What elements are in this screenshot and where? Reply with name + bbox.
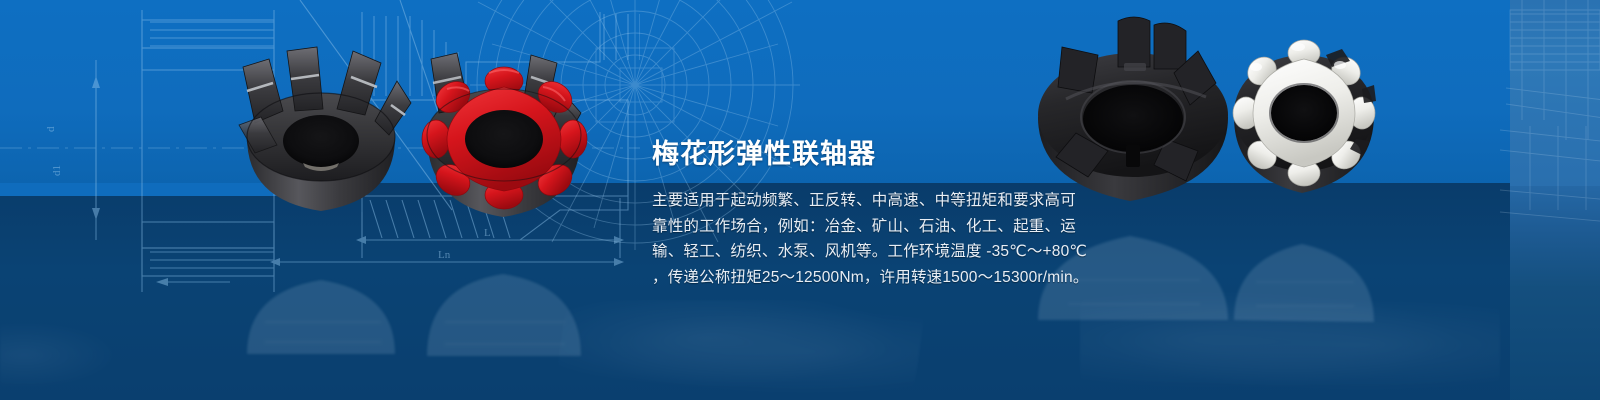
- description-line-1: 主要适用于起动频繁、正反转、中高速、中等扭矩和要求高可: [652, 188, 1072, 214]
- product-photo-left-pair: [225, 15, 615, 230]
- coupling-hub-white-spider: [1233, 40, 1376, 193]
- blueprint-drawing-right: [1500, 0, 1600, 260]
- description-line-3: 输、轻工、纺织、水泵、风机等。工作环境温度 -35℃～+80℃: [652, 239, 1072, 265]
- description-line-4: ，传递公称扭矩25～12500Nm，许用转速1500～15300r/min。: [652, 265, 1072, 291]
- banner-title: 梅花形弹性联轴器: [652, 138, 1072, 170]
- product-banner: d d1 D1 D L Ln: [0, 0, 1600, 400]
- coupling-hub-black: [239, 47, 411, 211]
- banner-description: 主要适用于起动频繁、正反转、中高速、中等扭矩和要求高可 靠性的工作场合，例如：冶…: [652, 188, 1072, 290]
- blueprint-label-bore: d: [45, 126, 57, 132]
- product-photo-right-pair: [1020, 5, 1380, 205]
- blueprint-label-diameter-2: d1: [51, 165, 63, 176]
- coupling-hub-red-spider: [422, 53, 587, 217]
- ghost-machinery-center: [553, 300, 926, 395]
- description-line-2: 靠性的工作场合，例如：冶金、矿山、石油、化工、起重、运: [652, 214, 1072, 240]
- blueprint-label-length-total: Ln: [438, 249, 451, 261]
- ghost-machinery-right: [1080, 290, 1500, 400]
- banner-text-block: 梅花形弹性联轴器 主要适用于起动频繁、正反转、中高速、中等扭矩和要求高可 靠性的…: [652, 138, 1072, 290]
- ghost-machinery-left: [0, 320, 120, 390]
